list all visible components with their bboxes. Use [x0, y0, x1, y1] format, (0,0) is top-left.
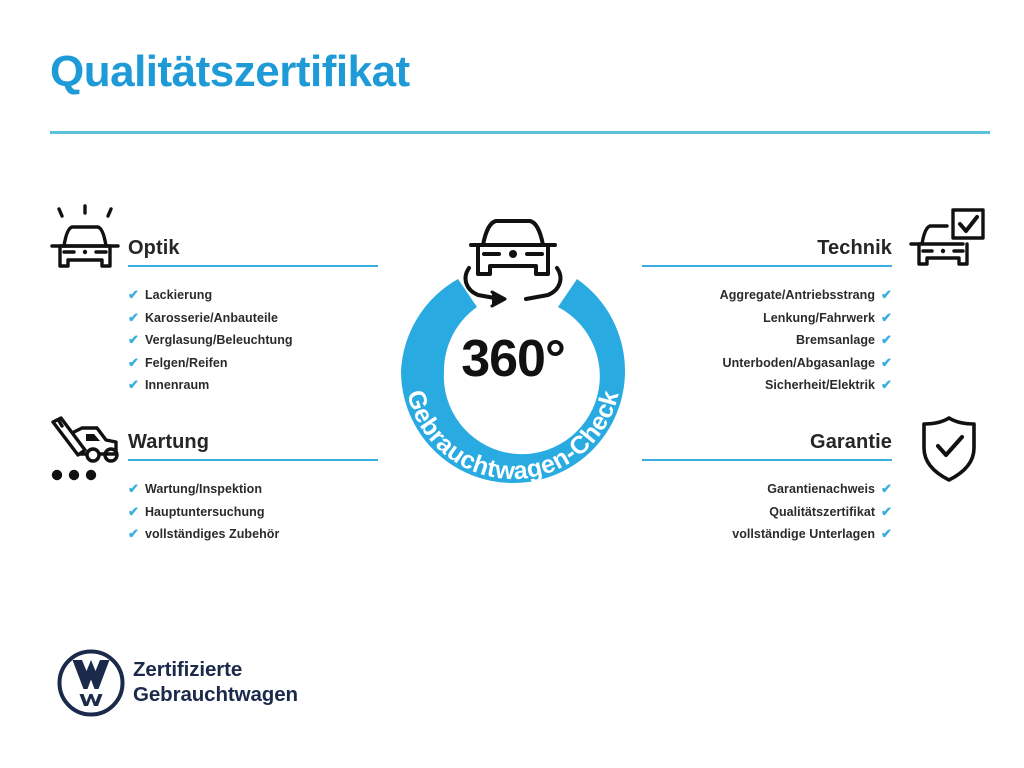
list-item: ✔Karosserie/Anbauteile — [128, 307, 378, 330]
check-icon: ✔ — [881, 287, 892, 302]
list-item: Bremsanlage✔ — [642, 329, 892, 352]
check-icon: ✔ — [881, 504, 892, 519]
check-icon: ✔ — [881, 355, 892, 370]
list-item: ✔Lackierung — [128, 284, 378, 307]
section-garantie-divider — [642, 459, 892, 461]
check-icon: ✔ — [881, 310, 892, 325]
list-item: ✔Verglasung/Beleuchtung — [128, 329, 378, 352]
list-item-label: Wartung/Inspektion — [145, 482, 262, 496]
list-item-label: Qualitätszertifikat — [769, 505, 875, 519]
list-item-label: Aggregate/Antriebsstrang — [720, 288, 875, 302]
section-wartung: Wartung ✔Wartung/Inspektion ✔Hauptunters… — [128, 432, 378, 546]
check-icon: ✔ — [881, 526, 892, 541]
list-item-label: Innenraum — [145, 378, 209, 392]
list-item: ✔Innenraum — [128, 374, 378, 397]
section-garantie-list: Garantienachweis✔ Qualitätszertifikat✔ v… — [642, 478, 892, 546]
footer-line-1: Zertifizierte — [133, 657, 298, 682]
list-item-label: Hauptuntersuchung — [145, 505, 265, 519]
list-item: ✔Hauptuntersuchung — [128, 501, 378, 524]
header-divider — [50, 131, 990, 134]
check-icon: ✔ — [128, 526, 139, 541]
car-service-icon — [42, 414, 128, 490]
section-garantie-heading: Garantie — [642, 432, 892, 459]
section-technik: Technik Aggregate/Antriebsstrang✔ Lenkun… — [642, 238, 892, 397]
page-title: Qualitätszertifikat — [50, 48, 410, 96]
volkswagen-logo — [56, 648, 126, 718]
list-item-label: Karosserie/Anbauteile — [145, 311, 278, 325]
list-item-label: vollständige Unterlagen — [732, 527, 875, 541]
list-item-label: Verglasung/Beleuchtung — [145, 333, 293, 347]
car-shine-icon — [42, 204, 128, 280]
list-item: ✔Wartung/Inspektion — [128, 478, 378, 501]
list-item: vollständige Unterlagen✔ — [642, 523, 892, 546]
list-item-label: vollständiges Zubehör — [145, 527, 279, 541]
list-item-label: Bremsanlage — [796, 333, 875, 347]
footer-line-2: Gebrauchtwagen — [133, 682, 298, 707]
check-icon: ✔ — [128, 287, 139, 302]
360-check-badge: Gebrauchtwagen-Check 360° — [372, 196, 654, 486]
section-technik-divider — [642, 265, 892, 267]
list-item-label: Lenkung/Fahrwerk — [763, 311, 875, 325]
list-item-label: Lackierung — [145, 288, 212, 302]
list-item-label: Sicherheit/Elektrik — [765, 378, 875, 392]
list-item-label: Unterboden/Abgasanlage — [723, 356, 876, 370]
check-icon: ✔ — [881, 332, 892, 347]
list-item: Aggregate/Antriebsstrang✔ — [642, 284, 892, 307]
check-icon: ✔ — [881, 481, 892, 496]
section-optik-list: ✔Lackierung ✔Karosserie/Anbauteile ✔Verg… — [128, 284, 378, 397]
list-item: ✔vollständiges Zubehör — [128, 523, 378, 546]
check-icon: ✔ — [128, 377, 139, 392]
section-garantie: Garantie Garantienachweis✔ Qualitätszert… — [642, 432, 892, 546]
section-technik-heading: Technik — [642, 238, 892, 265]
check-icon: ✔ — [881, 377, 892, 392]
list-item: Qualitätszertifikat✔ — [642, 501, 892, 524]
list-item: ✔Felgen/Reifen — [128, 352, 378, 375]
footer-brand-text: Zertifizierte Gebrauchtwagen — [133, 657, 298, 707]
section-wartung-heading: Wartung — [128, 432, 378, 459]
section-optik-divider — [128, 265, 378, 267]
car-checkbox-icon — [903, 206, 989, 282]
check-icon: ✔ — [128, 504, 139, 519]
check-icon: ✔ — [128, 355, 139, 370]
list-item: Garantienachweis✔ — [642, 478, 892, 501]
section-technik-list: Aggregate/Antriebsstrang✔ Lenkung/Fahrwe… — [642, 284, 892, 397]
list-item-label: Felgen/Reifen — [145, 356, 228, 370]
section-wartung-divider — [128, 459, 378, 461]
section-wartung-list: ✔Wartung/Inspektion ✔Hauptuntersuchung ✔… — [128, 478, 378, 546]
list-item-label: Garantienachweis — [767, 482, 875, 496]
list-item: Sicherheit/Elektrik✔ — [642, 374, 892, 397]
check-icon: ✔ — [128, 310, 139, 325]
list-item: Unterboden/Abgasanlage✔ — [642, 352, 892, 375]
check-icon: ✔ — [128, 332, 139, 347]
section-optik-heading: Optik — [128, 238, 378, 265]
list-item: Lenkung/Fahrwerk✔ — [642, 307, 892, 330]
check-icon: ✔ — [128, 481, 139, 496]
section-optik: Optik ✔Lackierung ✔Karosserie/Anbauteile… — [128, 238, 378, 397]
shield-check-icon — [906, 412, 992, 488]
